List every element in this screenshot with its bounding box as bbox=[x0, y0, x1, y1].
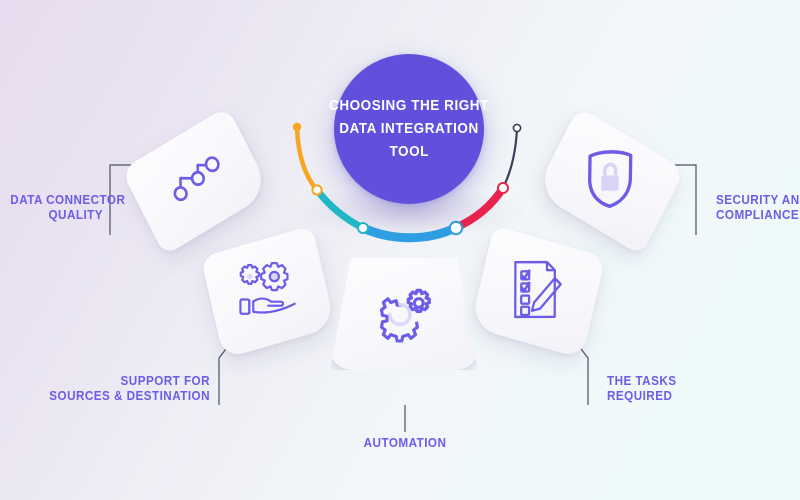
shield-lock-icon bbox=[584, 147, 635, 215]
card-security-and-compliance[interactable] bbox=[535, 106, 685, 256]
teal-segment bbox=[317, 190, 363, 228]
double-gear-icon bbox=[373, 281, 435, 348]
orange-end-dot bbox=[293, 123, 301, 131]
navy-end-dot bbox=[513, 124, 520, 131]
card-the-tasks-required[interactable] bbox=[471, 225, 606, 358]
hub-title-line-3: TOOL bbox=[389, 141, 428, 164]
node-connector-icon bbox=[168, 151, 223, 211]
label-line: REQUIRED bbox=[607, 388, 715, 403]
orange-segment bbox=[297, 128, 317, 190]
label-security-and-compliance: SECURITY AND COMPLIANCE bbox=[716, 192, 792, 222]
infographic-canvas: CHOOSING THE RIGHT DATA INTEGRATION TOOL bbox=[0, 0, 800, 500]
label-automation: AUTOMATION bbox=[347, 435, 464, 450]
hub-title-line-1: CHOOSING THE RIGHT bbox=[329, 95, 489, 118]
label-line: AUTOMATION bbox=[347, 435, 464, 450]
label-support-for-sources-destination: SUPPORT FOR SOURCES & DESTINATION bbox=[21, 373, 210, 403]
navy-segment bbox=[503, 129, 517, 188]
central-hub: CHOOSING THE RIGHT DATA INTEGRATION TOOL bbox=[334, 54, 484, 204]
label-line: COMPLIANCE bbox=[716, 207, 792, 222]
leader-line-tasks bbox=[578, 345, 588, 405]
teal-blue-node bbox=[358, 223, 368, 233]
label-data-connector-quality: DATA CONNECTOR QUALITY bbox=[10, 192, 103, 222]
label-line: DATA CONNECTOR bbox=[10, 192, 103, 207]
hub-title-line-2: DATA INTEGRATION bbox=[339, 118, 479, 141]
label-line: THE TASKS bbox=[607, 373, 715, 388]
blue-segment bbox=[363, 228, 455, 238]
label-line: SECURITY AND bbox=[716, 192, 792, 207]
red-navy-node bbox=[498, 183, 508, 193]
label-line: QUALITY bbox=[10, 207, 103, 222]
red-segment bbox=[455, 188, 503, 228]
blue-red-node bbox=[450, 222, 462, 234]
orange-teal-node bbox=[312, 185, 321, 194]
label-the-tasks-required: THE TASKS REQUIRED bbox=[607, 373, 715, 403]
label-line: SUPPORT FOR bbox=[21, 373, 210, 388]
card-support-for-sources-destination[interactable] bbox=[201, 225, 336, 358]
checklist-pencil-icon bbox=[509, 258, 566, 326]
label-line: SOURCES & DESTINATION bbox=[21, 388, 210, 403]
hand-gears-icon bbox=[235, 261, 300, 323]
card-automation[interactable] bbox=[330, 258, 478, 370]
leader-line-support bbox=[219, 345, 229, 405]
card-data-connector-quality[interactable] bbox=[121, 106, 271, 256]
